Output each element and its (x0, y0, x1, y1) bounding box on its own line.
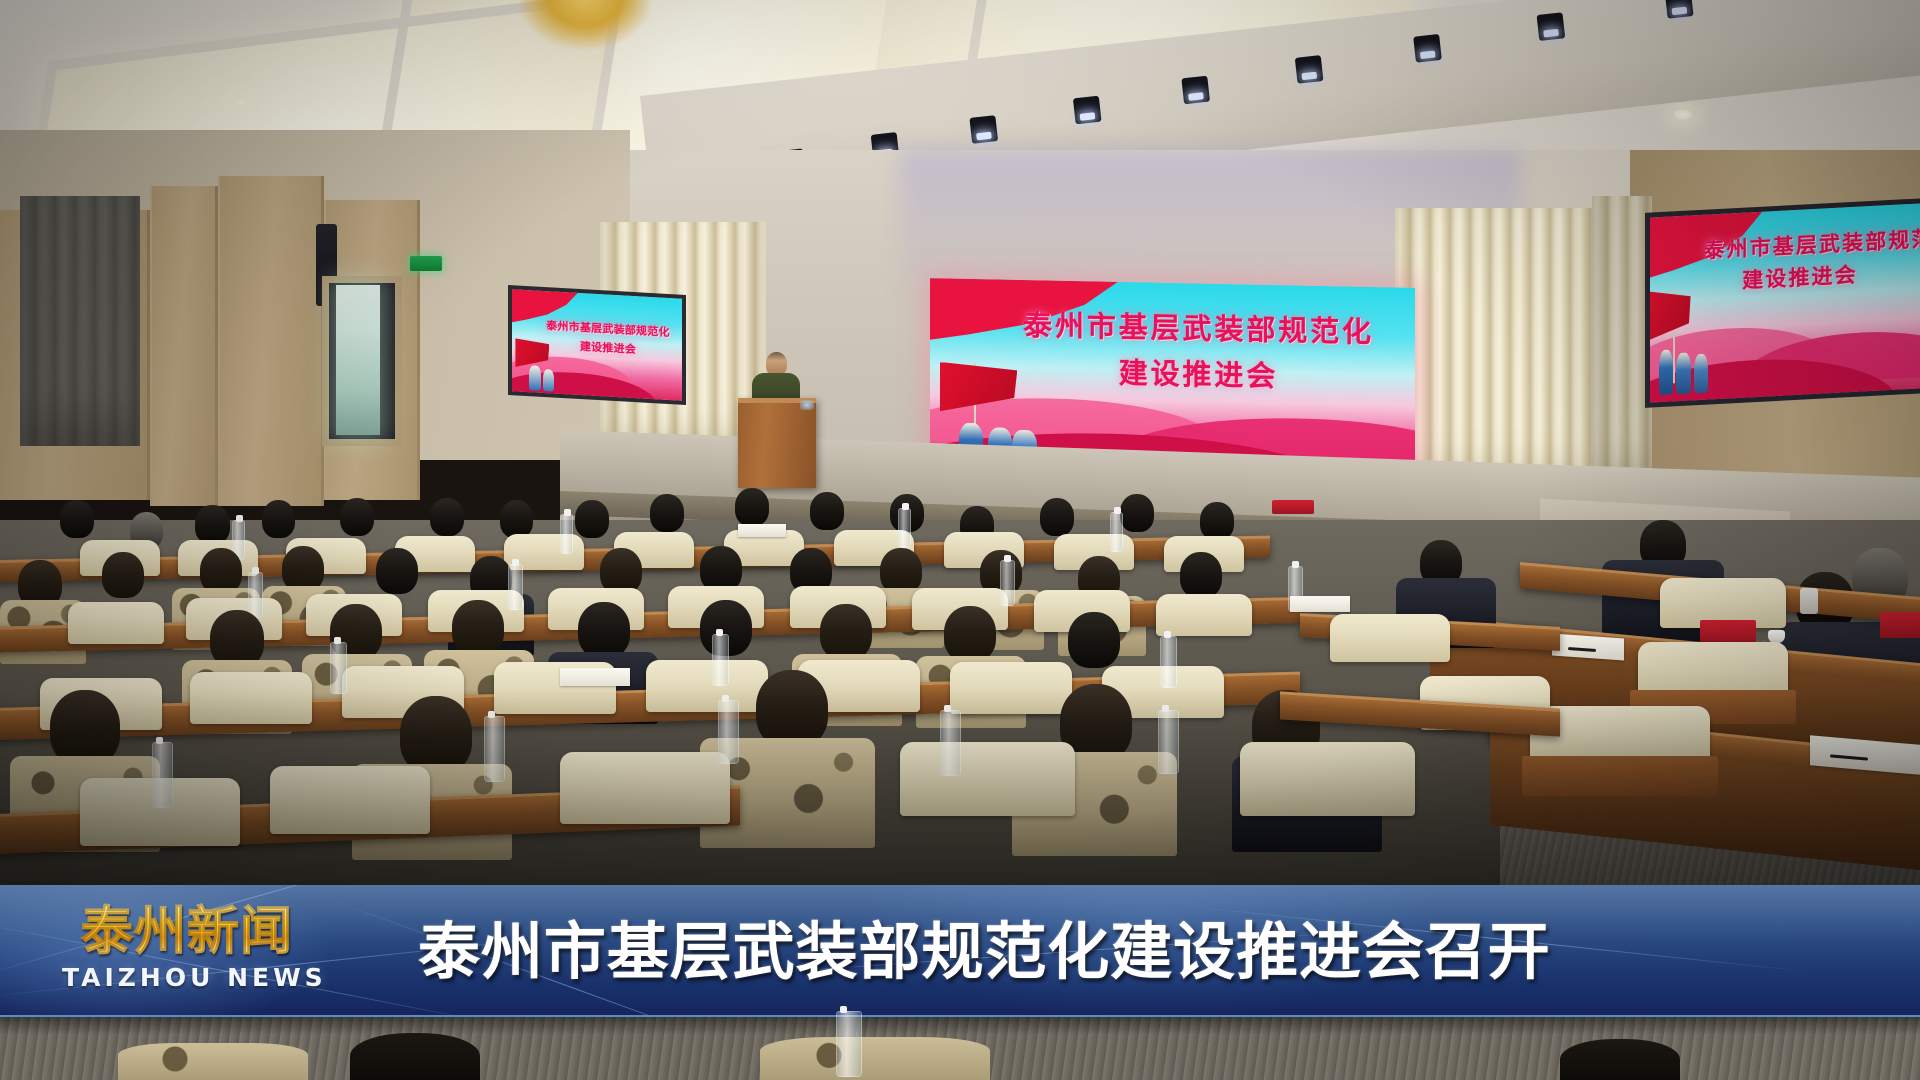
audience-seat (270, 766, 430, 834)
downlight-7 (1672, 108, 1694, 121)
channel-logo-chinese: 泰州新闻 (62, 903, 312, 961)
led-figure-right-3 (1694, 353, 1709, 393)
track-spotlight-9 (1537, 12, 1566, 41)
desk-paper (560, 668, 630, 686)
foreground-head (350, 1033, 480, 1080)
exit-door-open (336, 285, 380, 435)
left-wall-panel-b (150, 186, 218, 506)
side-led-screen-left: 泰州市基层武装部规范化 建设推进会 (508, 285, 686, 405)
audience-head (195, 505, 230, 544)
track-spotlight-6 (1181, 76, 1210, 105)
track-spotlight-8 (1413, 34, 1442, 63)
audience-head (340, 498, 374, 536)
desk-paper (738, 524, 786, 537)
downlight-1 (230, 96, 252, 109)
water-bottle (484, 716, 505, 782)
curtain-stage-right (1395, 208, 1595, 503)
side-led-screen-right: 泰州市基层武装部规范 建设推进会 (1645, 197, 1920, 408)
water-bottle (330, 642, 347, 694)
audience-head (262, 500, 295, 538)
foreground-head (1560, 1039, 1680, 1080)
water-bottle (248, 572, 263, 618)
audience-head (810, 492, 844, 530)
desk-name-card (1880, 612, 1920, 638)
audience-head (376, 548, 418, 594)
audience-head (1200, 502, 1234, 540)
water-bottle (898, 508, 911, 548)
audience-head (578, 602, 630, 658)
audience-head (820, 604, 872, 660)
audience-head (102, 552, 144, 598)
audience-head (1120, 494, 1154, 532)
audience-head (650, 494, 684, 532)
audience-seat (1156, 594, 1252, 636)
audience-seat (1330, 614, 1450, 662)
led-figure-right-2 (1676, 352, 1691, 393)
led-figure-left-1 (529, 366, 541, 391)
below-banner-floor-strip (0, 1017, 1920, 1080)
audience-seat (68, 602, 164, 644)
audience-head (756, 670, 828, 748)
left-wall-panel-c (218, 176, 324, 506)
foreground-shoulder (118, 1043, 308, 1080)
news-lower-third-banner: 泰州新闻 TAIZHOU NEWS 泰州市基层武装部规范化建设推进会召开 (0, 885, 1920, 1017)
channel-logo-english: TAIZHOU NEWS (62, 963, 312, 992)
news-headline: 泰州市基层武装部规范化建设推进会召开 (418, 911, 1551, 993)
desk-paper (1290, 596, 1350, 612)
below-banner-shadow (0, 1017, 1920, 1035)
water-bottle (836, 1011, 862, 1077)
desk-name-card (1272, 500, 1314, 514)
water-bottle (1110, 512, 1123, 552)
thermos (1800, 588, 1818, 614)
audience-head (50, 690, 120, 766)
water-bottle (560, 514, 573, 554)
track-spotlight-7 (1295, 55, 1324, 84)
curtain-left-dark (20, 196, 140, 446)
audience-head (500, 500, 533, 538)
water-bottle (152, 742, 173, 808)
chandelier (520, 0, 650, 48)
audience-seat (560, 752, 730, 824)
track-spotlight-10 (1665, 0, 1694, 19)
foreground-shoulder (760, 1037, 990, 1080)
water-bottle (940, 710, 961, 776)
water-bottle (508, 564, 523, 610)
audience-seat (1240, 742, 1415, 816)
water-bottle (718, 700, 739, 764)
led-figure-right-1 (1659, 350, 1674, 395)
audience-seat (900, 742, 1075, 816)
audience-seat-back (1522, 756, 1718, 796)
audience-head (575, 500, 609, 538)
screenshot-frame: 泰州市基层武装部规范化 建设推进会 泰州市基层武装部规范化 建设推进会 (0, 0, 1920, 1080)
audience-head (430, 498, 464, 536)
curtain-far-right (1592, 196, 1652, 496)
audience-head (400, 696, 472, 774)
water-bottle (1160, 636, 1177, 688)
channel-logo: 泰州新闻 TAIZHOU NEWS (62, 903, 312, 1003)
audience-seat (950, 662, 1072, 714)
podium-mic-light (800, 400, 814, 410)
podium (738, 398, 816, 488)
audience-head (735, 488, 769, 526)
audience-head (1068, 612, 1120, 668)
audience-seat (190, 672, 312, 724)
audience-seat (646, 660, 768, 712)
audience-head (60, 500, 94, 538)
track-spotlight-4 (969, 115, 998, 144)
led-figure-left-2 (543, 368, 555, 391)
audience-head (1040, 498, 1074, 536)
audience-head (452, 600, 504, 656)
audience-head (944, 606, 996, 662)
exit-sign (410, 256, 442, 271)
water-bottle (712, 634, 729, 686)
water-bottle (1000, 560, 1015, 606)
track-spotlight-5 (1073, 96, 1102, 125)
audience-head (1180, 552, 1222, 598)
water-bottle (1158, 710, 1179, 774)
